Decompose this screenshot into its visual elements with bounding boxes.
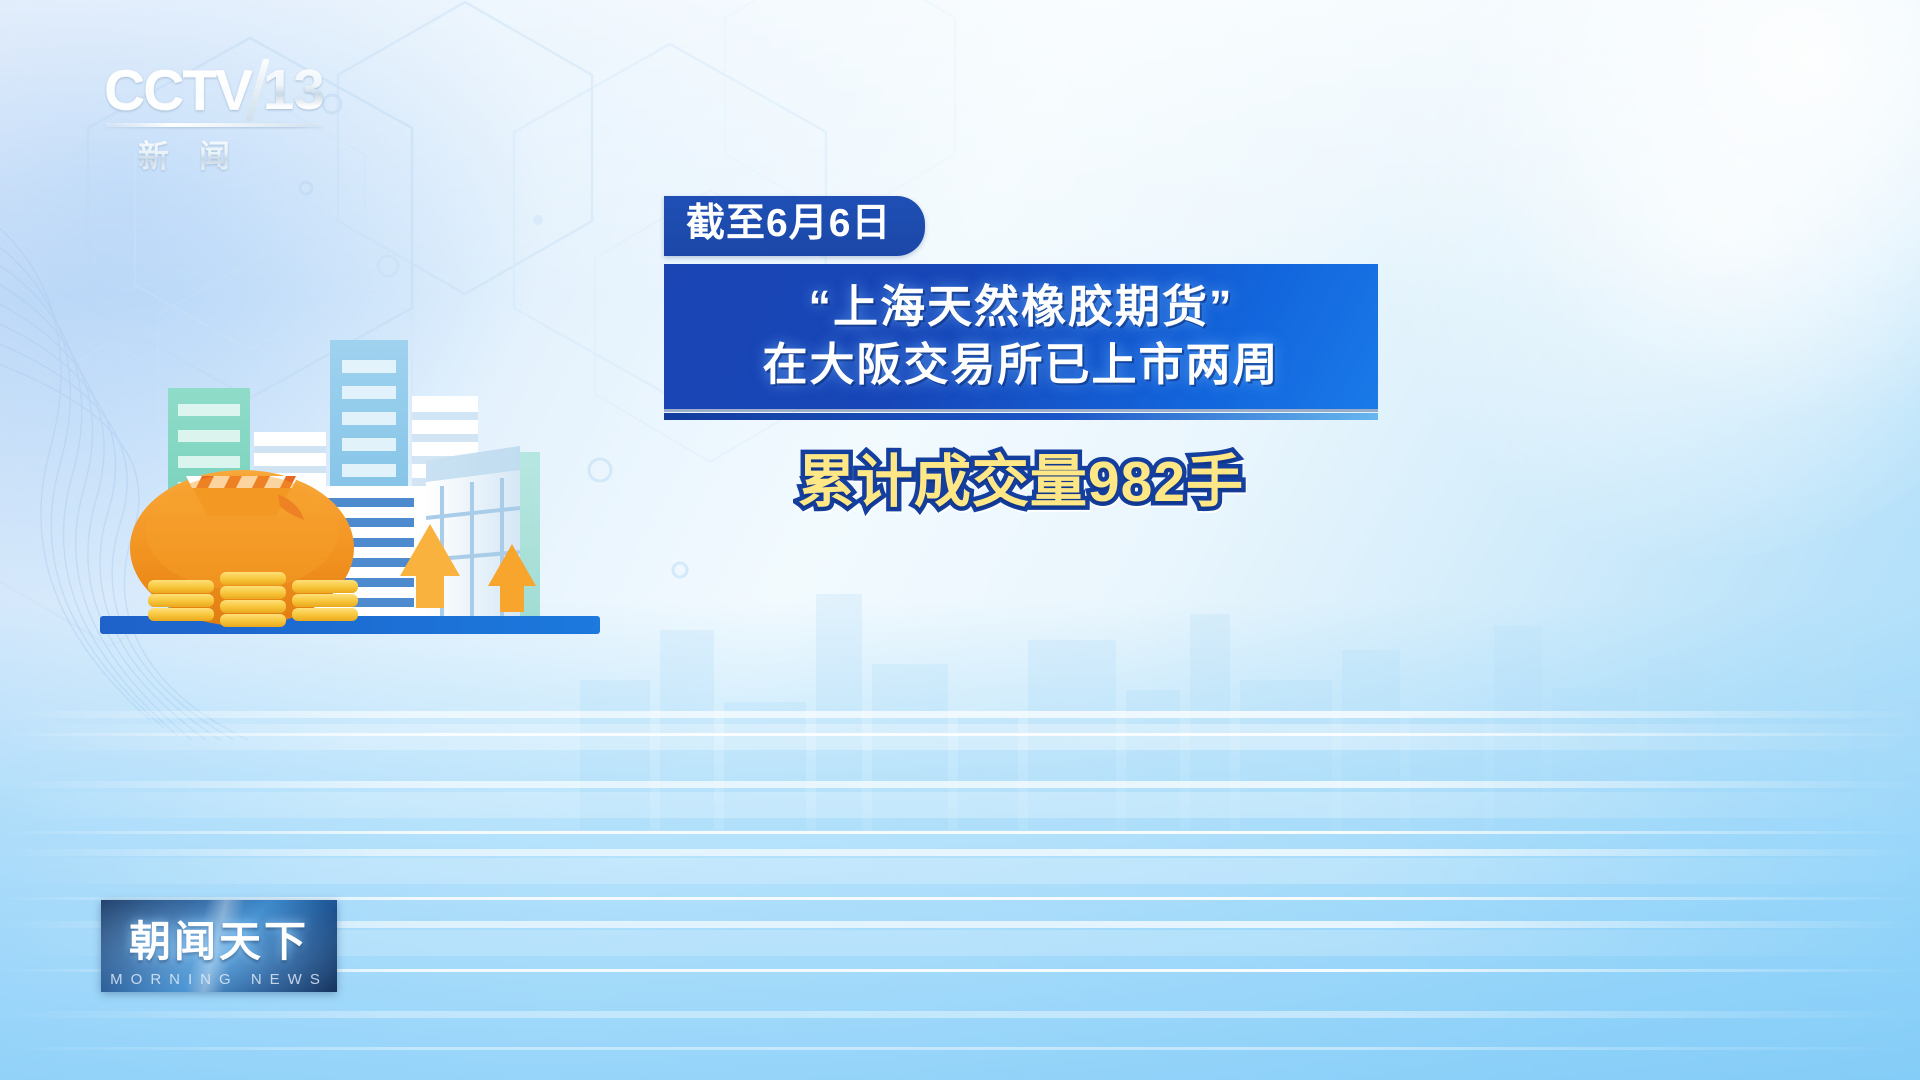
cctv-chinese-label: 新 闻	[104, 131, 324, 176]
date-badge: 截至6月6日	[664, 196, 925, 256]
program-name-en-reflection: MORNING NEWS	[101, 989, 337, 992]
program-name-cn: 朝闻天下	[101, 900, 337, 969]
headline-line-2: 在大阪交易所已上市两周	[690, 336, 1352, 394]
cctv-channel-logo: CCTV 13 新 闻	[104, 58, 324, 166]
highlight-statistic: 累计成交量982手	[664, 436, 1378, 518]
cctv-divider	[106, 123, 324, 127]
broadcast-stage: CCTV 13 新 闻	[0, 0, 1920, 1080]
headline-panel: “上海天然橡胶期货” 在大阪交易所已上市两周	[664, 264, 1378, 409]
cctv-wordmark: CCTV	[104, 57, 251, 123]
cctv-channel-number: 13	[263, 57, 324, 123]
cctv-cn-char-2: 闻	[199, 131, 234, 176]
coin-stack-3	[292, 580, 358, 621]
program-logo: 朝闻天下 MORNING NEWS MORNING NEWS	[101, 900, 337, 992]
headline-underbar	[664, 413, 1378, 420]
light-streaks	[0, 660, 1920, 1080]
finance-illustration	[90, 280, 650, 680]
headline-line-1: “上海天然橡胶期货”	[690, 278, 1352, 336]
program-name-en: MORNING NEWS	[101, 971, 337, 988]
coin-stack-1	[148, 580, 214, 621]
cctv-cn-char-1: 新	[138, 131, 173, 176]
headline-group: 截至6月6日 “上海天然橡胶期货” 在大阪交易所已上市两周 累计成交量982手	[664, 196, 1394, 518]
